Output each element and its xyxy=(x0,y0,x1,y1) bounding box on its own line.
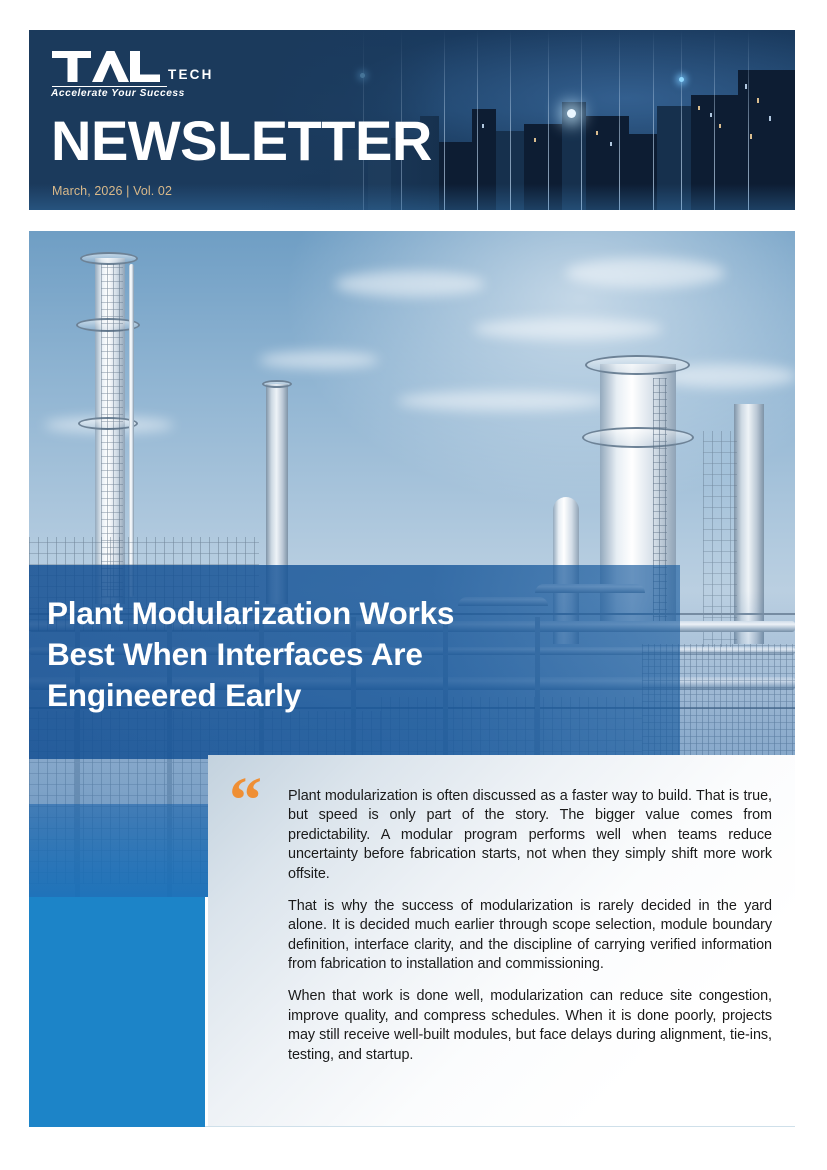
logo-tagline: Accelerate Your Success xyxy=(51,89,214,99)
body-paragraph-2: That is why the success of modularizatio… xyxy=(288,897,772,975)
left-accent-panel xyxy=(29,897,205,1127)
article-body-panel: “ Plant modularization is often discusse… xyxy=(208,755,795,1127)
article-body-text: Plant modularization is often discussed … xyxy=(288,787,772,1065)
footer-divider xyxy=(205,1126,795,1127)
body-paragraph-3: When that work is done well, modularizat… xyxy=(288,987,772,1065)
quote-mark-icon: “ xyxy=(229,777,262,825)
header-banner: TECH Accelerate Your Success NEWSLETTER … xyxy=(29,30,795,210)
headline-line-3: Engineered Early xyxy=(47,675,647,716)
taaltech-logo: TECH Accelerate Your Success xyxy=(51,49,214,99)
issue-date-line: March, 2026 | Vol. 02 xyxy=(52,184,172,198)
newsletter-page: TECH Accelerate Your Success NEWSLETTER … xyxy=(0,0,827,1170)
logo-tech-text: TECH xyxy=(168,68,214,84)
headline-line-1: Plant Modularization Works xyxy=(47,593,647,634)
headline-line-2: Best When Interfaces Are xyxy=(47,634,647,675)
logo-divider-rule xyxy=(52,86,167,87)
article-headline: Plant Modularization Works Best When Int… xyxy=(47,593,647,716)
taal-wordmark-icon xyxy=(51,49,161,83)
page-title: NEWSLETTER xyxy=(51,113,432,169)
body-paragraph-1: Plant modularization is often discussed … xyxy=(288,787,772,884)
